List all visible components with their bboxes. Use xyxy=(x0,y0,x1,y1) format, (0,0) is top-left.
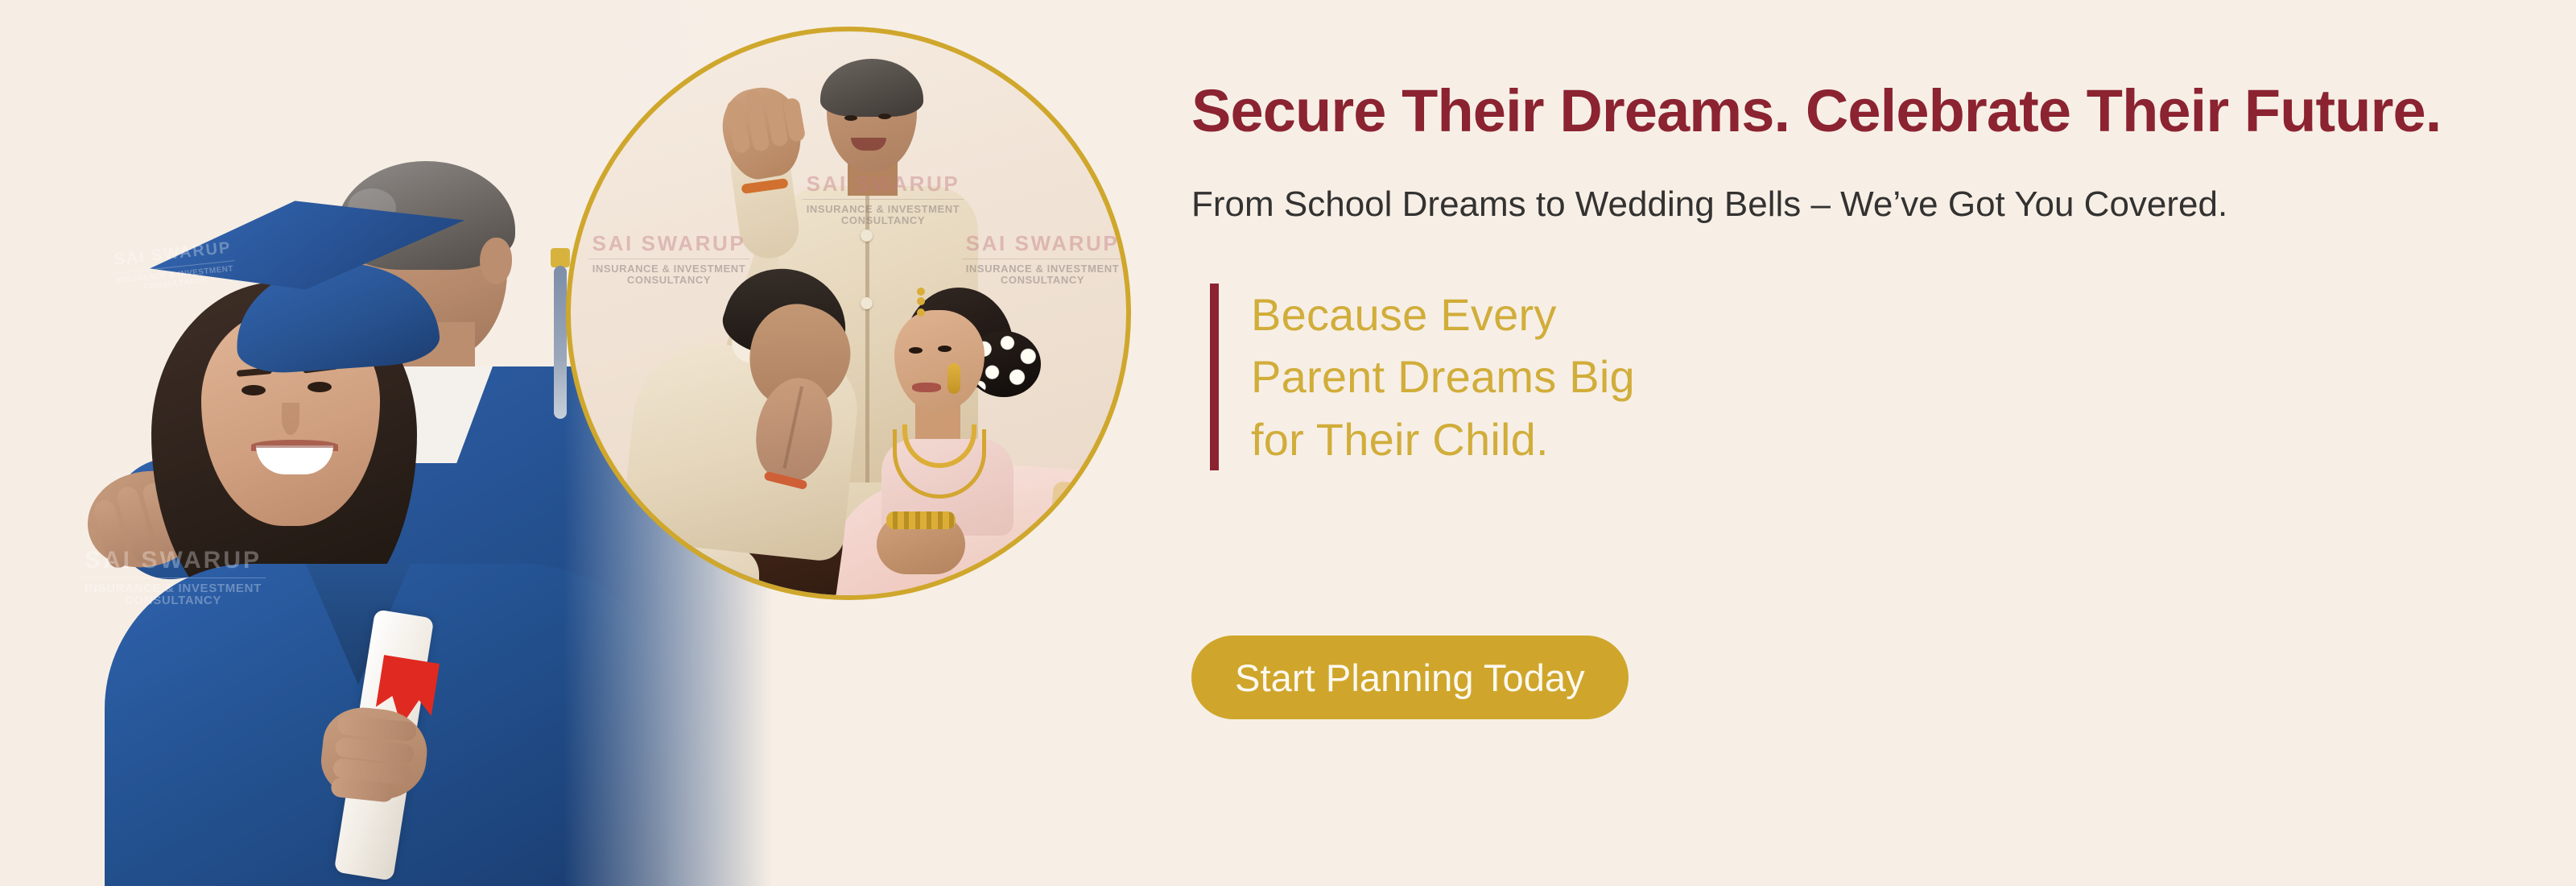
bride-eye-right xyxy=(938,346,952,352)
elder-eye-right xyxy=(878,114,891,119)
wedding-circle-photo: SAI SWARUP INSURANCE & INVESTMENT CONSUL… xyxy=(566,27,1131,600)
bride-maang-tikka xyxy=(917,308,925,317)
hero-banner: SAI SWARUP INSURANCE & INVESTMENT CONSUL… xyxy=(0,0,2576,886)
watermark-rule xyxy=(962,259,1123,259)
quote-line-2: Parent Dreams Big xyxy=(1251,346,1934,408)
watermark-circle-left: SAI SWARUP INSURANCE & INVESTMENT CONSUL… xyxy=(588,233,749,286)
watermark-circle-right: SAI SWARUP INSURANCE & INVESTMENT CONSUL… xyxy=(962,233,1123,286)
watermark-tagline-line1: INSURANCE & INVESTMENT xyxy=(962,263,1123,275)
quote-line-3: for Their Child. xyxy=(1251,408,1934,470)
graduate-nose xyxy=(282,403,299,435)
start-planning-today-button[interactable]: Start Planning Today xyxy=(1191,636,1629,719)
graduate-eye-right xyxy=(308,382,332,392)
elder-eye-left xyxy=(844,115,857,121)
circle-photo-inner: SAI SWARUP INSURANCE & INVESTMENT CONSUL… xyxy=(571,31,1126,595)
watermark-rule xyxy=(588,259,749,259)
bride-lips xyxy=(912,383,941,392)
bride-earring xyxy=(947,363,960,394)
page-title: Secure Their Dreams. Celebrate Their Fut… xyxy=(1191,81,2576,143)
watermark-tagline-line2: CONSULTANCY xyxy=(588,275,749,286)
watermark-brand-name: SAI SWARUP xyxy=(588,233,749,255)
watermark-tagline-line2: CONSULTANCY xyxy=(962,275,1123,286)
elder-hair xyxy=(820,59,923,117)
groom-lower-leg xyxy=(658,547,759,600)
banner-content: Secure Their Dreams. Celebrate Their Fut… xyxy=(1191,0,2576,886)
watermark-tagline-line1: INSURANCE & INVESTMENT xyxy=(588,263,749,275)
tagline-quote: Because Every Parent Dreams Big for Thei… xyxy=(1210,284,1934,470)
bride-eye-left xyxy=(909,347,923,354)
quote-line-1: Because Every xyxy=(1251,284,1934,346)
watermark-brand-name: SAI SWARUP xyxy=(962,233,1123,255)
bride-bangles xyxy=(886,511,956,529)
subheadline: From School Dreams to Wedding Bells – We… xyxy=(1191,184,2576,226)
graduate-eye-left xyxy=(242,385,266,395)
father-ear xyxy=(480,238,512,284)
elder-jacket-button xyxy=(861,230,873,242)
elder-jacket-button xyxy=(861,297,873,309)
